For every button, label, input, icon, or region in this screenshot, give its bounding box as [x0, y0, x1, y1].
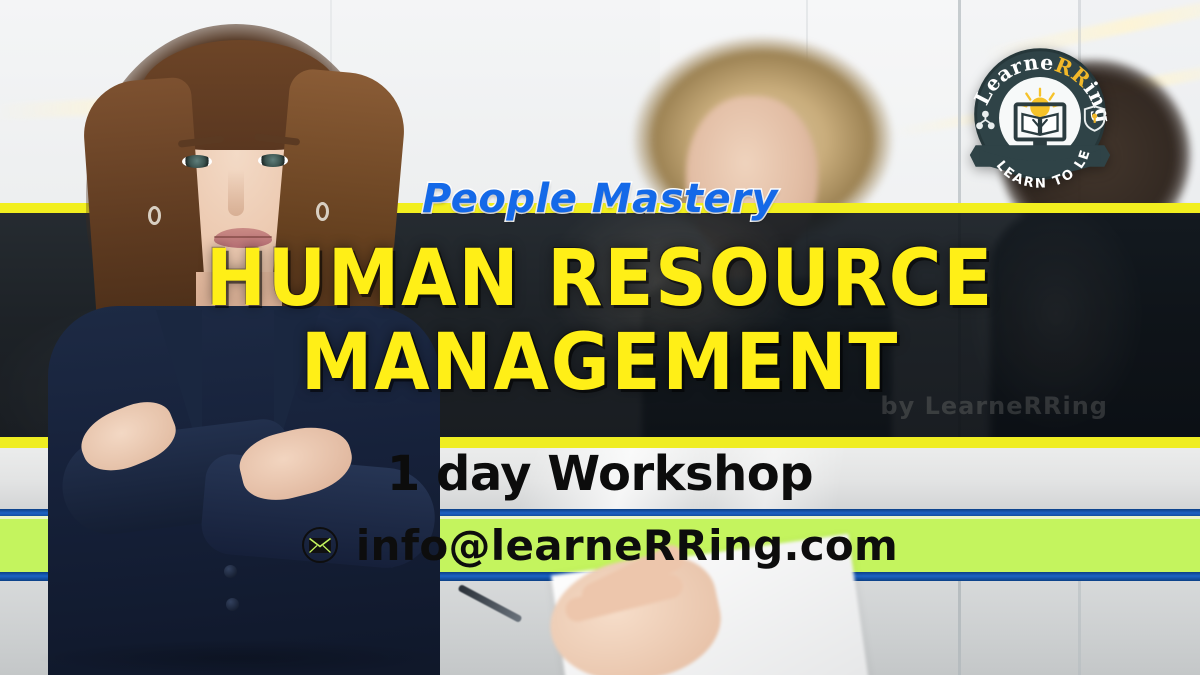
envelope-icon — [302, 527, 338, 563]
logo-learnerring[interactable]: LearneRRing — [962, 40, 1118, 196]
email-contact-row[interactable]: info@learneRRing.com — [0, 519, 1200, 571]
poster-canvas: People Mastery HUMAN RESOURCE MANAGEMENT… — [0, 0, 1200, 675]
email-address: info@learneRRing.com — [356, 521, 898, 570]
subject-shadow — [40, 640, 440, 675]
brand-watermark: by LearneRRing — [880, 392, 1108, 420]
subtitle-text: 1 day Workshop — [0, 446, 1200, 502]
headline-line-1: HUMAN RESOURCE — [48, 238, 1152, 320]
hand-holding-paper — [520, 560, 990, 675]
window-mullion — [1078, 581, 1081, 675]
